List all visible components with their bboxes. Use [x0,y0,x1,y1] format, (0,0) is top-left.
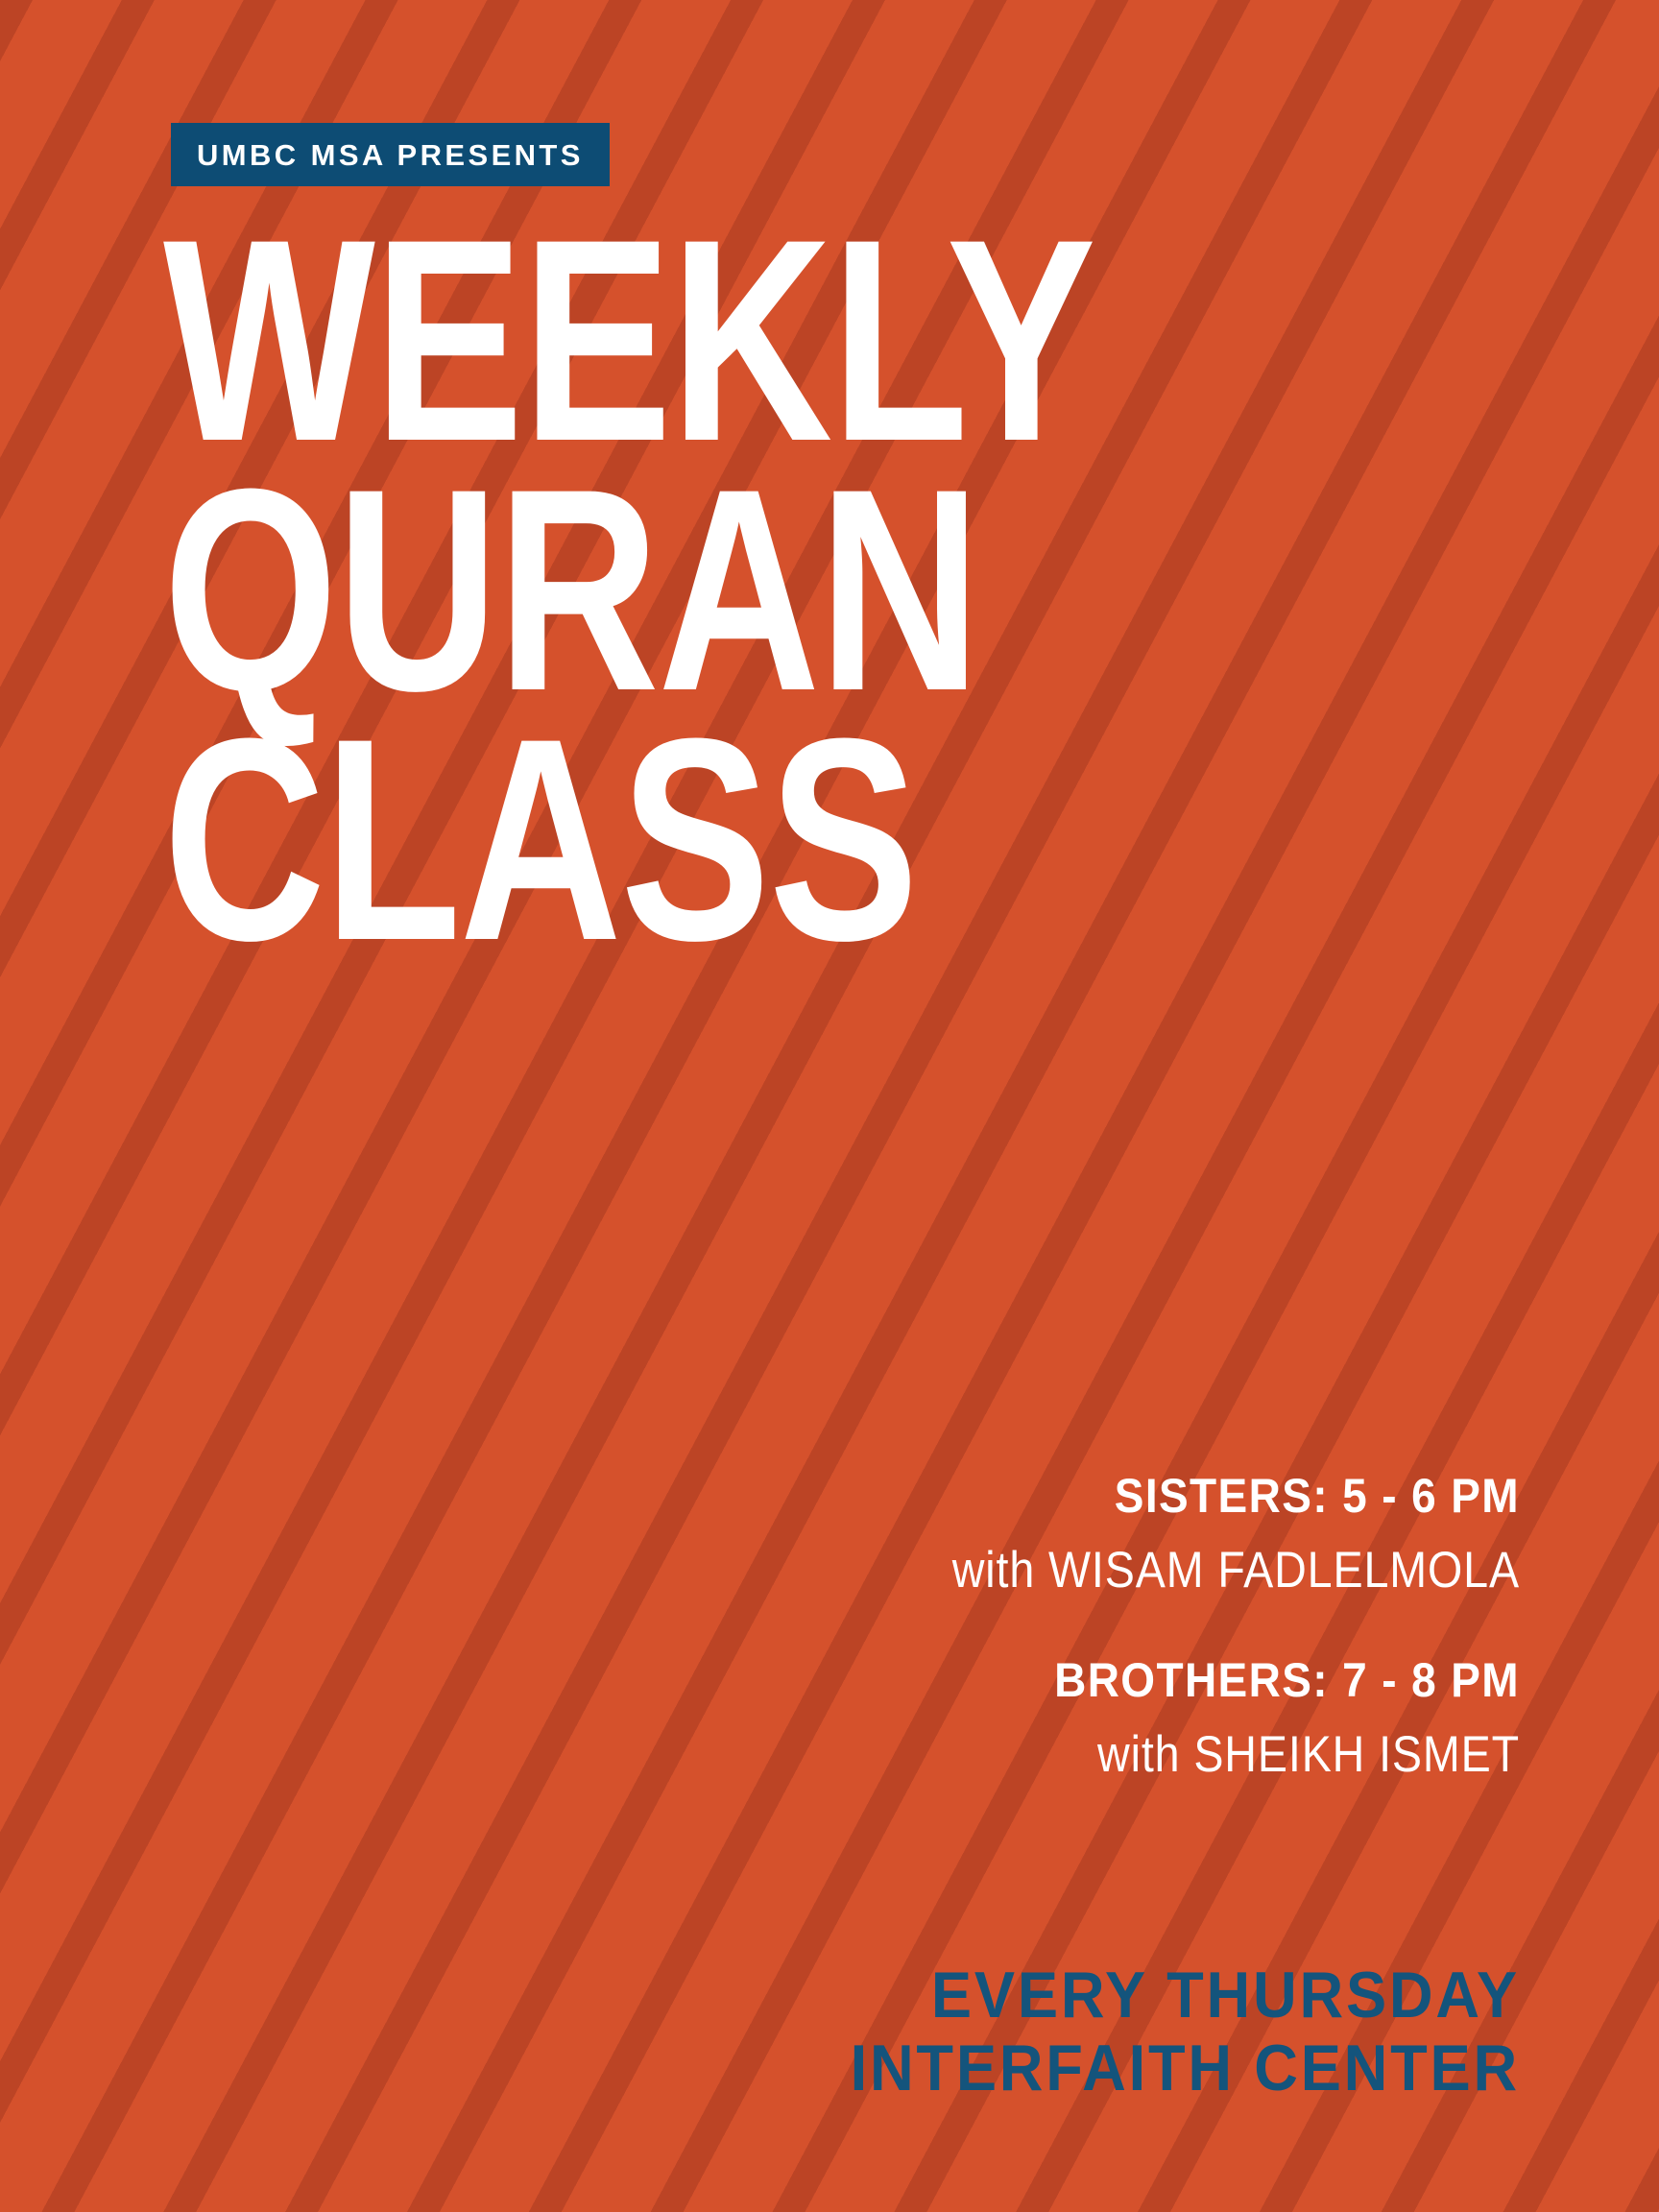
headline-line-2: QURAN [163,469,1137,710]
presenter-banner: UMBC MSA PRESENTS [171,123,610,186]
presenter-banner-label: UMBC MSA PRESENTS [197,140,584,170]
schedule-group-brothers: BROTHERS: 7 - 8 PM with SHEIKH ISMET [502,1653,1520,1784]
event-venue: INTERFAITH CENTER [538,2032,1520,2104]
headline-line-3: CLASS [163,718,1137,960]
sisters-session-time: SISTERS: 5 - 6 PM [584,1469,1520,1525]
event-poster: UMBC MSA PRESENTS WEEKLY QURAN CLASS SIS… [0,0,1659,2212]
sisters-session-instructor: with WISAM FADLELMOLA [624,1542,1520,1600]
schedule-block: SISTERS: 5 - 6 PM with WISAM FADLELMOLA … [502,1469,1520,1785]
brothers-session-instructor: with SHEIKH ISMET [624,1726,1520,1785]
event-day: EVERY THURSDAY [538,1959,1520,2032]
schedule-group-sisters: SISTERS: 5 - 6 PM with WISAM FADLELMOLA [502,1469,1520,1599]
brothers-session-time: BROTHERS: 7 - 8 PM [584,1653,1520,1709]
event-location-block: EVERY THURSDAY INTERFAITH CENTER [464,1959,1520,2104]
headline-line-1: WEEKLY [163,219,1137,461]
poster-headline: WEEKLY QURAN CLASS [163,219,1411,960]
